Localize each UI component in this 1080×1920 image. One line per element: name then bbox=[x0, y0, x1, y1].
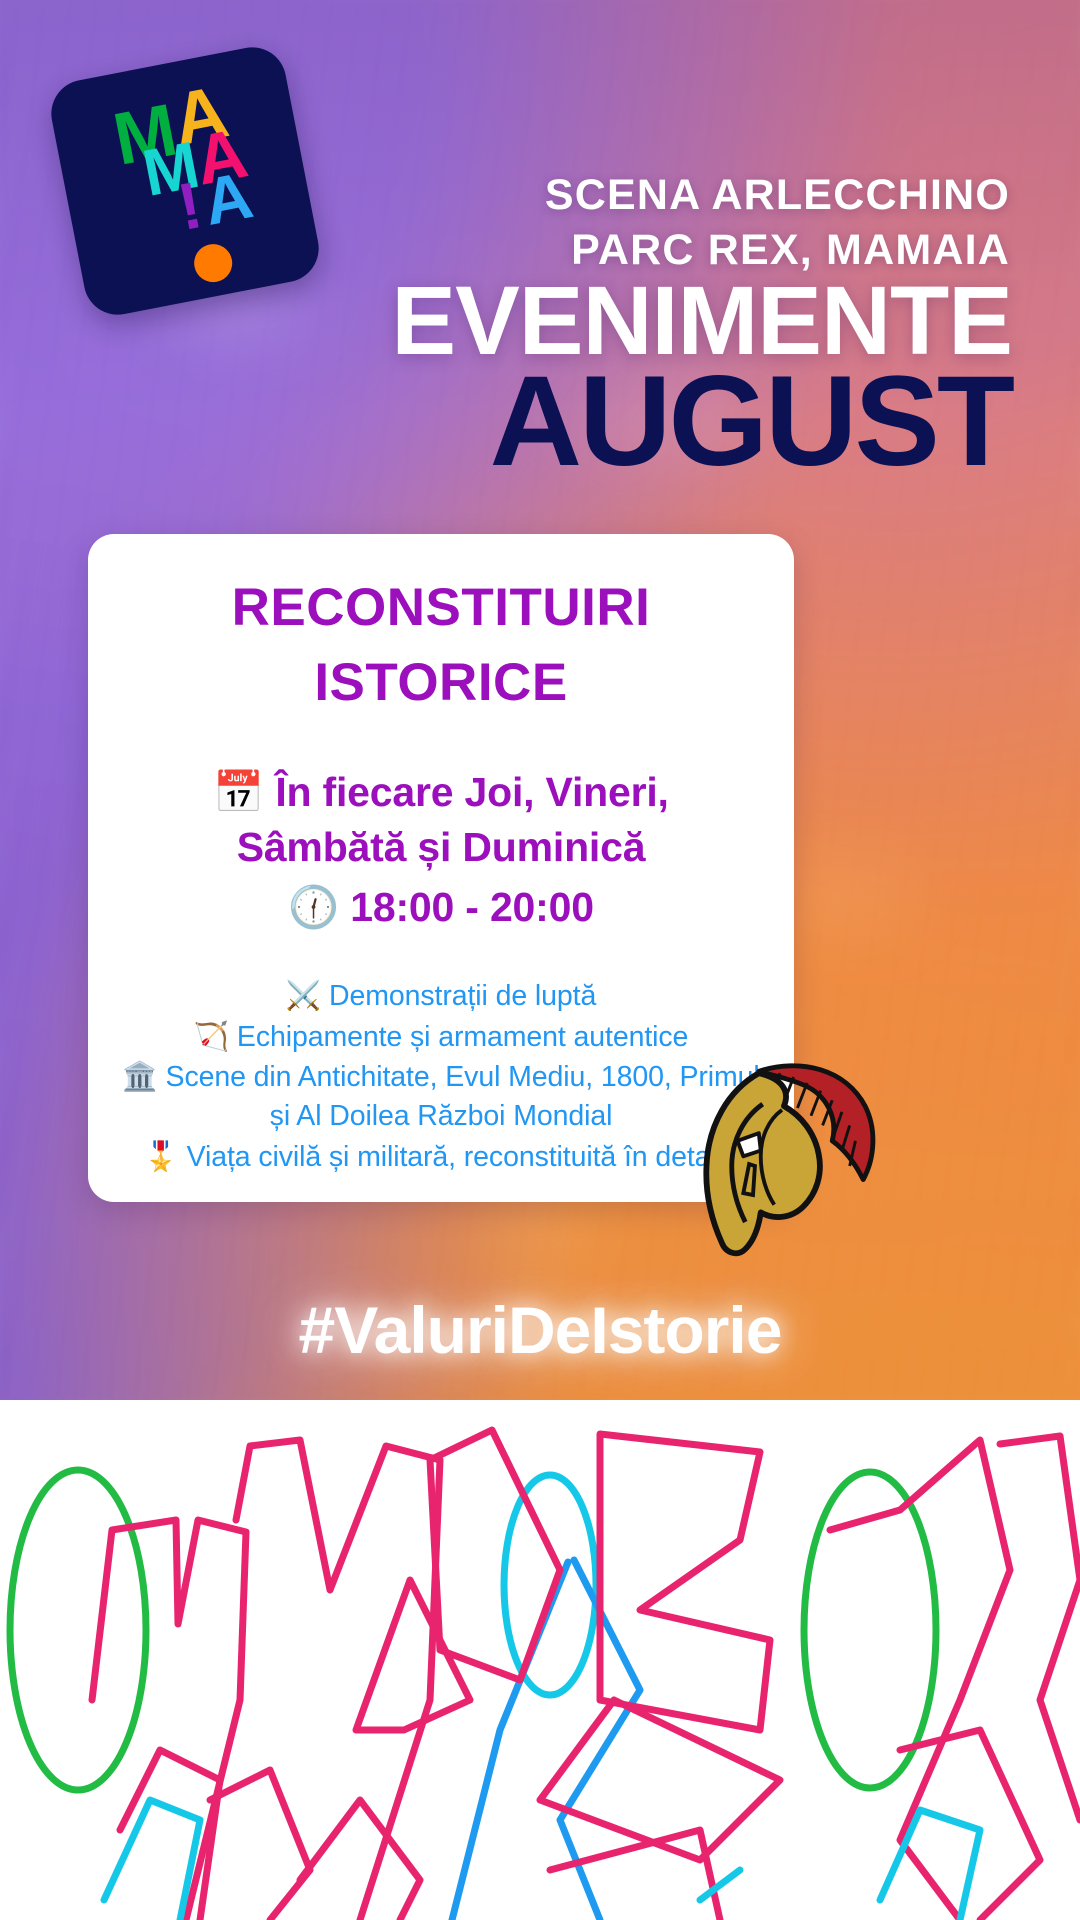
page-title-month: AUGUST bbox=[192, 358, 1012, 486]
classical-building-icon: 🏛️ bbox=[122, 1060, 157, 1093]
crossed-swords-icon: ⚔️ bbox=[286, 979, 321, 1012]
feature-item-2-text: Echipamente și armament autentice bbox=[237, 1021, 688, 1053]
clock-icon: 🕧 bbox=[288, 883, 339, 931]
venue-header: SCENA ARLECCHINO PARC REX, MAMAIA bbox=[270, 168, 1010, 278]
event-title-line1: RECONSTITUIRI bbox=[114, 570, 768, 645]
bow-and-arrow-icon: 🏹 bbox=[194, 1020, 229, 1053]
logo-letter-a3: A bbox=[200, 168, 255, 229]
line-art-letters bbox=[0, 1400, 1080, 1920]
event-days-line2: Sâmbătă și Duminică bbox=[237, 824, 646, 870]
campaign-hashtag: #ValuriDeIstorie bbox=[0, 1292, 1080, 1368]
event-days: 📅 În fiecare Joi, Vineri, Sâmbătă și Dum… bbox=[114, 765, 768, 876]
feature-item-1: ⚔️ Demonstrații de luptă bbox=[114, 976, 768, 1016]
feature-item-1-text: Demonstrații de luptă bbox=[329, 980, 596, 1012]
event-title-line2: ISTORICE bbox=[114, 645, 768, 720]
event-time: 🕧 18:00 - 20:00 bbox=[114, 883, 768, 932]
poster-root: M A M A ! A SCENA ARLECCHINO PARC REX, M… bbox=[0, 0, 1080, 1920]
military-medal-icon: 🎖️ bbox=[143, 1140, 178, 1173]
calendar-icon: 📅 bbox=[213, 768, 264, 816]
event-time-range: 18:00 - 20:00 bbox=[350, 884, 594, 930]
event-days-line1: În fiecare Joi, Vineri, bbox=[275, 769, 668, 815]
footer-line-art-band bbox=[0, 1400, 1080, 1920]
event-title: RECONSTITUIRI ISTORICE bbox=[114, 570, 768, 721]
spartan-helmet-illustration bbox=[666, 1050, 898, 1282]
event-schedule: 📅 În fiecare Joi, Vineri, Sâmbătă și Dum… bbox=[114, 765, 768, 933]
venue-stage-name: SCENA ARLECCHINO bbox=[270, 168, 1010, 223]
feature-item-4-text: Viața civilă și militară, reconstituită … bbox=[187, 1141, 739, 1173]
